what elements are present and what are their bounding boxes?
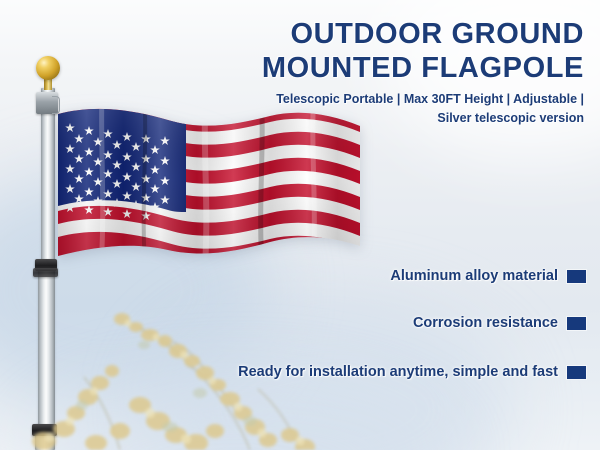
subheadline: Telescopic Portable | Max 30FT Height | … [244, 90, 584, 128]
subheadline-line-2: Silver telescopic version [244, 109, 584, 128]
headline-line-1: OUTDOOR GROUND [184, 18, 584, 52]
feature-item: Ready for installation anytime, simple a… [166, 358, 586, 386]
bullet-square-icon [567, 317, 586, 330]
feature-label: Aluminum alloy material [390, 268, 558, 284]
pole-segment-top [41, 88, 55, 266]
headline-line-2: MOUNTED FLAGPOLE [184, 52, 584, 86]
product-ad-banner: OUTDOOR GROUND MOUNTED FLAGPOLE Telescop… [0, 0, 600, 450]
pole-segment-middle [38, 262, 55, 430]
feature-label: Corrosion resistance [413, 315, 558, 331]
pole-clamp-upper-shadow [33, 268, 58, 277]
feature-label: Ready for installation anytime, simple a… [238, 364, 558, 380]
subheadline-line-1: Telescopic Portable | Max 30FT Height | … [244, 90, 584, 109]
feature-item: Aluminum alloy material [166, 262, 586, 290]
gold-ball-finial-icon [36, 56, 60, 80]
feature-item: Corrosion resistance [166, 309, 586, 337]
headline: OUTDOOR GROUND MOUNTED FLAGPOLE [184, 18, 584, 85]
bullet-square-icon [567, 270, 586, 283]
bullet-square-icon [567, 366, 586, 379]
feature-list: Aluminum alloy material Corrosion resist… [166, 262, 586, 386]
pole-clamp-lower [32, 424, 57, 436]
